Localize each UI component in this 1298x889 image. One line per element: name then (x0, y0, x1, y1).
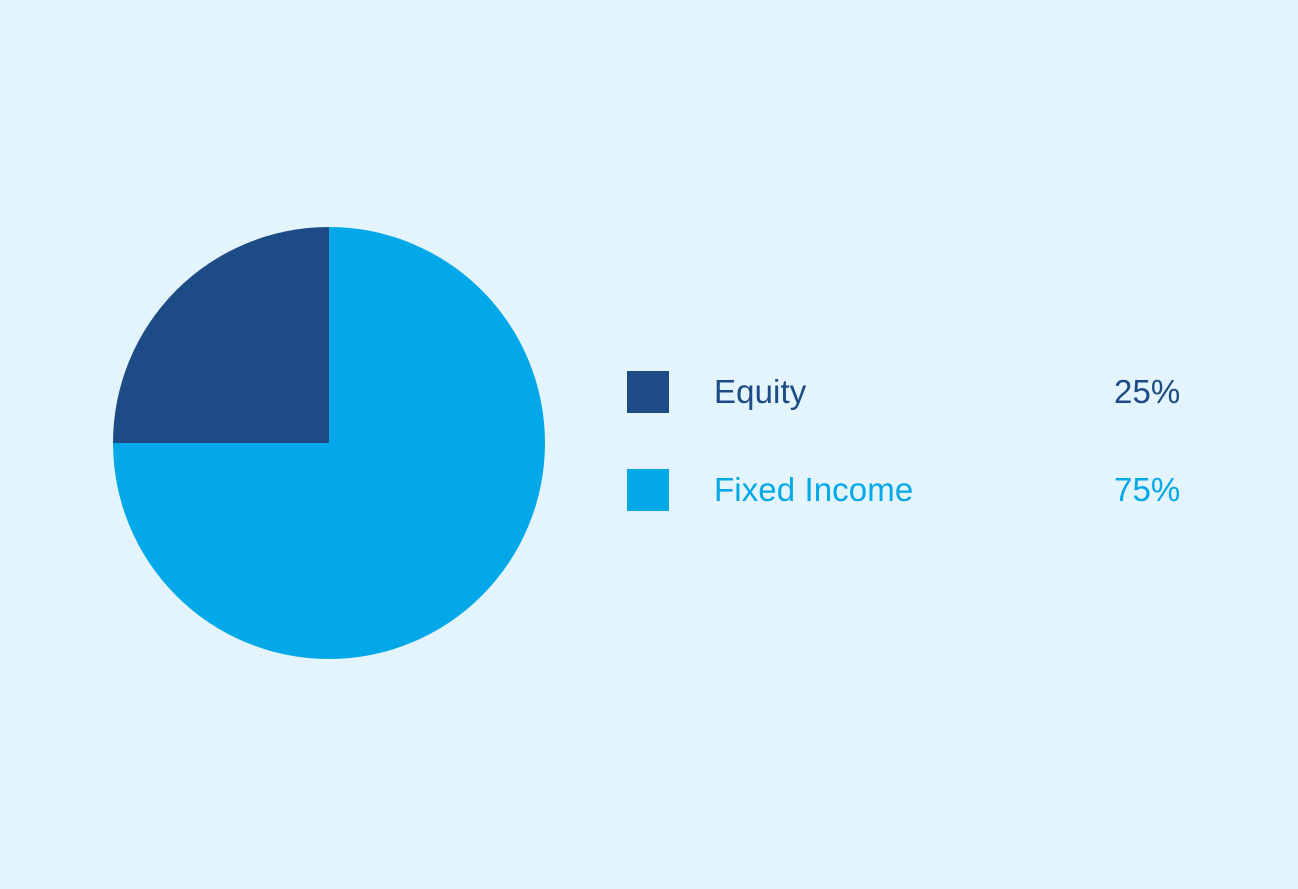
pie-chart-figure: Equity 25% Fixed Income 75% (0, 0, 1298, 889)
legend-value-equity: 25% (1114, 362, 1180, 422)
legend-value-fixed-income: 75% (1114, 460, 1180, 520)
pie-slice-equity[interactable] (113, 227, 329, 443)
chart-legend: Equity 25% Fixed Income 75% (627, 362, 1202, 558)
pie-chart (113, 227, 545, 659)
legend-swatch-equity (627, 371, 669, 413)
legend-row-equity[interactable]: Equity 25% (627, 362, 1202, 460)
legend-swatch-fixed-income (627, 469, 669, 511)
pie-chart-svg (113, 227, 545, 659)
legend-row-fixed-income[interactable]: Fixed Income 75% (627, 460, 1202, 558)
legend-label-fixed-income: Fixed Income (714, 460, 913, 520)
legend-label-equity: Equity (714, 362, 806, 422)
